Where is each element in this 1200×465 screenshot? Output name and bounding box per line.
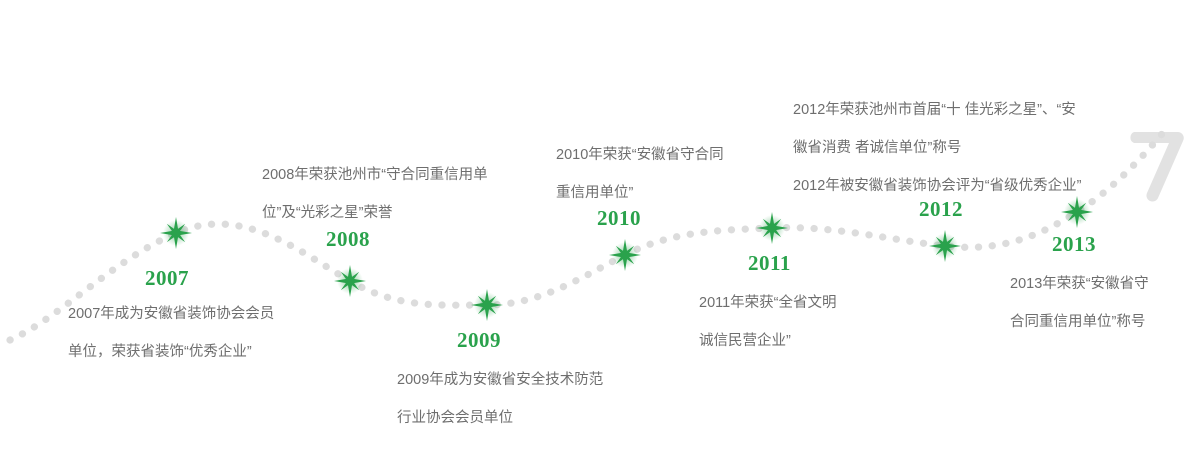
caption-line: 位”及“光彩之星”荣誉 <box>262 194 488 232</box>
caption-line: 诚信民营企业” <box>699 322 837 360</box>
milestone-node-2011 <box>754 210 791 247</box>
caption-line: 2011年荣获“全省文明 <box>699 284 837 322</box>
caption-line: 2012年被安徽省装饰协会评为“省级优秀企业” <box>793 167 1081 205</box>
caption-line: 行业协会会员单位 <box>397 399 603 437</box>
caption-line: 2013年荣获“安徽省守 <box>1010 265 1149 303</box>
milestone-caption-2009: 2009年成为安徽省安全技术防范 行业协会会员单位 <box>397 361 603 437</box>
milestone-caption-2013: 2013年荣获“安徽省守 合同重信用单位”称号 <box>1010 265 1149 341</box>
year-label-2013: 2013 <box>1052 234 1096 255</box>
caption-line: 重信用单位” <box>556 174 724 212</box>
year-label-2011: 2011 <box>748 253 791 274</box>
milestone-node-2009 <box>469 287 506 324</box>
milestone-node-2008 <box>332 263 369 300</box>
milestone-node-2012 <box>927 228 964 265</box>
year-label-2009: 2009 <box>457 330 501 351</box>
caption-line: 合同重信用单位”称号 <box>1010 303 1149 341</box>
watermark-seven-icon <box>1128 116 1190 208</box>
caption-line: 2007年成为安徽省装饰协会会员 <box>68 295 274 333</box>
milestone-caption-2011: 2011年荣获“全省文明 诚信民营企业” <box>699 284 837 360</box>
milestone-caption-2007: 2007年成为安徽省装饰协会会员 单位，荣获省装饰“优秀企业” <box>68 295 274 371</box>
milestone-caption-2008: 2008年荣获池州市“守合同重信用单 位”及“光彩之星”荣誉 <box>262 156 488 232</box>
year-label-2007: 2007 <box>145 268 189 289</box>
caption-line: 2009年成为安徽省安全技术防范 <box>397 361 603 399</box>
caption-line: 单位，荣获省装饰“优秀企业” <box>68 333 274 371</box>
year-label-2008: 2008 <box>326 229 370 250</box>
caption-line: 2012年荣获池州市首届“十 佳光彩之星”、“安 <box>793 91 1081 129</box>
caption-line: 2010年荣获“安徽省守合同 <box>556 136 724 174</box>
milestone-node-2010 <box>607 237 644 274</box>
milestone-caption-2012: 2012年荣获池州市首届“十 佳光彩之星”、“安 徽省消费 者诚信单位”称号 2… <box>793 91 1081 205</box>
milestone-caption-2010: 2010年荣获“安徽省守合同 重信用单位” <box>556 136 724 212</box>
milestone-node-2007 <box>158 215 195 252</box>
timeline-diagram: 2007 2007年成为安徽省装饰协会会员 单位，荣获省装饰“优秀企业” 200… <box>0 0 1200 465</box>
caption-line: 徽省消费 者诚信单位”称号 <box>793 129 1081 167</box>
caption-line: 2008年荣获池州市“守合同重信用单 <box>262 156 488 194</box>
